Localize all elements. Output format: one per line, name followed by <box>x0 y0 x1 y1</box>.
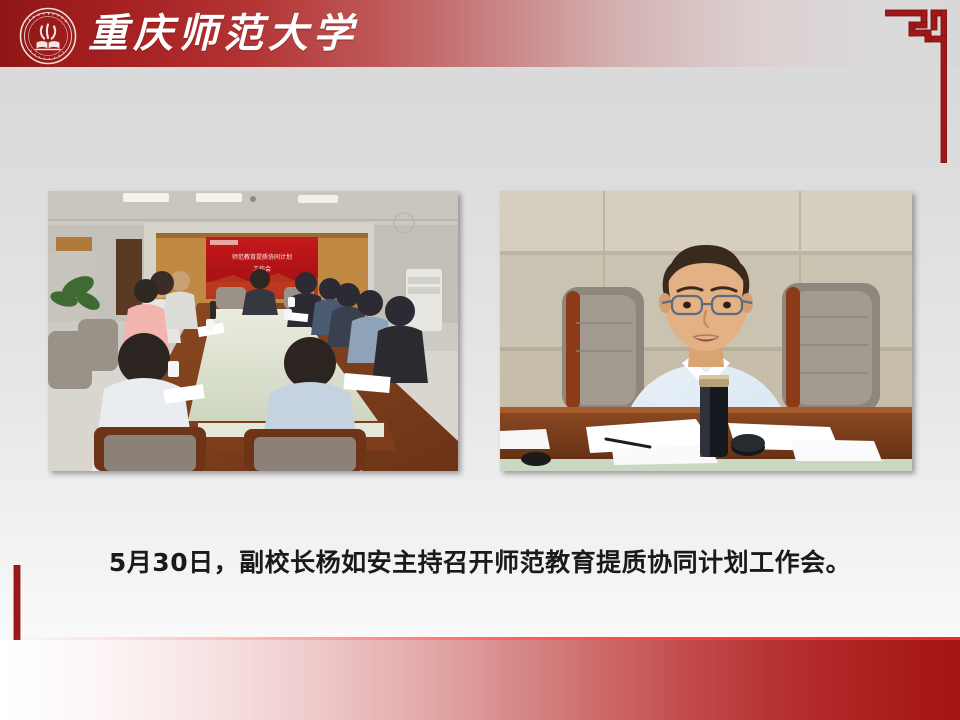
meander-corner-ornament-top-right-icon <box>885 8 947 163</box>
header-band: 重庆师范大学 <box>0 0 960 67</box>
speaker-photo <box>500 191 912 471</box>
header-inner: 重庆师范大学 <box>0 0 960 67</box>
bottom-gradient-band <box>0 640 960 720</box>
meeting-room-photo: 师范教育提质协同计划 工作会 <box>48 191 458 471</box>
university-emblem-icon <box>18 7 78 65</box>
screen-title-line1: 师范教育提质协同计划 <box>232 253 292 261</box>
slide-caption: 5月30日，副校长杨如安主持召开师范教育提质协同计划工作会。 <box>0 543 960 579</box>
slide-canvas: 重庆师范大学 <box>0 0 960 720</box>
university-title: 重庆师范大学 <box>88 5 358 63</box>
